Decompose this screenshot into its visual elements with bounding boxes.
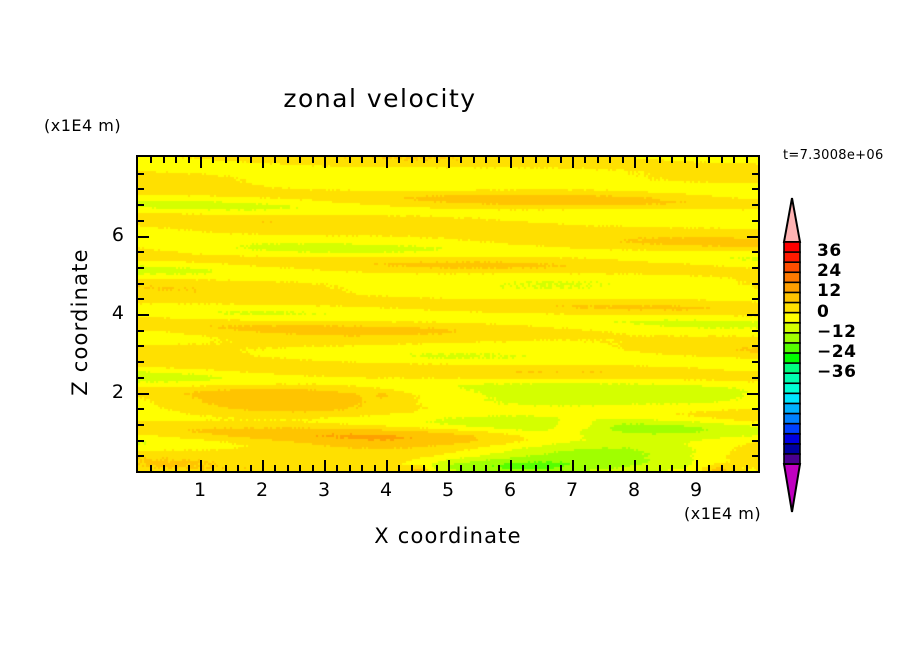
colorbar-band — [784, 242, 800, 252]
colorbar-band — [784, 373, 800, 383]
x-tick-top — [671, 157, 673, 163]
x-tick-top — [746, 157, 748, 163]
z-tick — [138, 424, 144, 426]
x-tick-top — [436, 157, 438, 163]
z-tick-right — [752, 173, 758, 175]
x-tick — [150, 465, 152, 471]
x-tick — [473, 465, 475, 471]
x-tick-top — [225, 157, 227, 163]
z-tick-right — [752, 408, 758, 410]
x-tick-top — [448, 157, 450, 168]
x-axis-units-label: (x1E4 m) — [684, 504, 761, 523]
x-tick-top — [163, 157, 165, 163]
colorbar-band — [784, 343, 800, 353]
colorbar-tick-label: 24 — [817, 261, 842, 281]
x-tick-top — [634, 157, 636, 168]
x-tick-label: 6 — [490, 479, 530, 501]
z-tick-right — [752, 377, 758, 379]
z-tick-right — [752, 424, 758, 426]
z-tick — [138, 455, 144, 457]
z-tick — [138, 314, 149, 316]
x-tick — [250, 465, 252, 471]
x-tick-top — [535, 157, 537, 163]
z-tick-right — [752, 345, 758, 347]
x-tick — [312, 465, 314, 471]
x-tick — [498, 465, 500, 471]
x-tick-label: 9 — [676, 479, 716, 501]
colorbar-band — [784, 262, 800, 272]
colorbar-band — [784, 383, 800, 393]
z-tick — [138, 298, 144, 300]
x-tick-label: 1 — [180, 479, 220, 501]
x-tick-top — [547, 157, 549, 163]
x-tick — [634, 460, 636, 471]
x-tick — [708, 465, 710, 471]
x-tick — [262, 460, 264, 471]
z-tick — [138, 220, 144, 222]
x-tick-top — [398, 157, 400, 163]
x-tick — [324, 460, 326, 471]
colorbar-under-range-cap — [784, 464, 800, 512]
x-tick — [212, 465, 214, 471]
contour-field-canvas — [138, 157, 758, 471]
z-tick — [138, 440, 144, 442]
x-tick — [225, 465, 227, 471]
x-tick — [733, 465, 735, 471]
x-tick — [671, 465, 673, 471]
x-tick-top — [250, 157, 252, 163]
z-tick-right — [747, 236, 758, 238]
x-tick-top — [336, 157, 338, 163]
x-tick-top — [473, 157, 475, 163]
x-tick-top — [349, 157, 351, 163]
x-tick — [547, 465, 549, 471]
x-tick-top — [522, 157, 524, 163]
x-tick — [287, 465, 289, 471]
z-tick — [138, 204, 144, 206]
colorbar-band — [784, 282, 800, 292]
x-tick-top — [386, 157, 388, 168]
colorbar-band — [784, 424, 800, 434]
colorbar-tick-label: 0 — [817, 302, 829, 322]
y-axis-units-label: (x1E4 m) — [44, 116, 121, 135]
x-tick-top — [324, 157, 326, 168]
x-tick-top — [287, 157, 289, 163]
x-tick — [646, 465, 648, 471]
z-tick-right — [752, 188, 758, 190]
z-tick-right — [752, 361, 758, 363]
z-tick — [138, 408, 144, 410]
z-tick — [138, 330, 144, 332]
x-tick — [659, 465, 661, 471]
x-tick-top — [560, 157, 562, 163]
colorbar-band — [784, 353, 800, 363]
z-tick — [138, 393, 149, 395]
x-tick-top — [609, 157, 611, 163]
x-tick — [374, 465, 376, 471]
x-tick-top — [312, 157, 314, 163]
colorbar-band — [784, 414, 800, 424]
x-tick-top — [485, 157, 487, 163]
x-tick — [349, 465, 351, 471]
colorbar-tick-label: −24 — [817, 342, 856, 362]
colorbar: 3624120−12−24−36 — [777, 196, 811, 514]
page-title: zonal velocity — [0, 84, 760, 113]
z-tick-right — [752, 455, 758, 457]
x-tick — [684, 465, 686, 471]
colorbar-graphic — [777, 196, 811, 514]
z-tick — [138, 236, 149, 238]
x-tick — [274, 465, 276, 471]
z-tick-right — [752, 204, 758, 206]
x-tick-top — [622, 157, 624, 163]
colorbar-tick-label: −36 — [817, 362, 856, 382]
z-tick — [138, 267, 144, 269]
x-tick-top — [733, 157, 735, 163]
x-tick — [746, 465, 748, 471]
x-tick — [622, 465, 624, 471]
x-tick — [535, 465, 537, 471]
x-tick-top — [708, 157, 710, 163]
colorbar-band — [784, 272, 800, 282]
z-tick-right — [747, 393, 758, 395]
x-tick — [398, 465, 400, 471]
x-tick — [237, 465, 239, 471]
x-tick-top — [274, 157, 276, 163]
x-tick-label: 5 — [428, 479, 468, 501]
x-tick — [460, 465, 462, 471]
colorbar-band — [784, 454, 800, 464]
x-tick — [411, 465, 413, 471]
x-tick-label: 4 — [366, 479, 406, 501]
x-tick-top — [175, 157, 177, 163]
x-tick — [299, 465, 301, 471]
z-tick-right — [752, 440, 758, 442]
x-axis-title: X coordinate — [136, 524, 760, 548]
x-tick — [696, 460, 698, 471]
z-tick-right — [752, 298, 758, 300]
x-tick-top — [374, 157, 376, 163]
z-tick-label: 4 — [84, 302, 124, 324]
x-tick — [200, 460, 202, 471]
colorbar-band — [784, 434, 800, 444]
x-tick — [436, 465, 438, 471]
x-tick — [597, 465, 599, 471]
x-tick-top — [150, 157, 152, 163]
colorbar-band — [784, 323, 800, 333]
z-tick — [138, 173, 144, 175]
z-tick-label: 6 — [84, 224, 124, 246]
x-tick — [584, 465, 586, 471]
x-tick-top — [584, 157, 586, 163]
z-tick — [138, 188, 144, 190]
colorbar-tick-label: −12 — [817, 322, 856, 342]
colorbar-over-range-cap — [784, 198, 800, 242]
x-tick-top — [696, 157, 698, 168]
contour-plot-area — [136, 155, 760, 473]
z-tick — [138, 283, 144, 285]
x-tick — [423, 465, 425, 471]
x-tick — [188, 465, 190, 471]
colorbar-tick-label: 36 — [817, 241, 842, 261]
x-tick-label: 3 — [304, 479, 344, 501]
colorbar-band — [784, 403, 800, 413]
x-tick-top — [646, 157, 648, 163]
x-tick — [560, 465, 562, 471]
x-tick-top — [721, 157, 723, 163]
z-tick-right — [752, 251, 758, 253]
z-tick — [138, 251, 144, 253]
x-tick-label: 8 — [614, 479, 654, 501]
x-tick — [163, 465, 165, 471]
colorbar-band — [784, 393, 800, 403]
x-tick — [361, 465, 363, 471]
x-tick-label: 7 — [552, 479, 592, 501]
colorbar-tick-label: 12 — [817, 281, 842, 301]
colorbar-band — [784, 363, 800, 373]
z-tick-right — [752, 220, 758, 222]
x-tick-top — [659, 157, 661, 163]
x-tick-top — [262, 157, 264, 168]
x-tick-top — [299, 157, 301, 163]
z-tick — [138, 377, 144, 379]
x-tick-label: 2 — [242, 479, 282, 501]
x-tick-top — [460, 157, 462, 163]
z-tick-label: 2 — [84, 381, 124, 403]
x-tick — [609, 465, 611, 471]
x-tick-top — [200, 157, 202, 168]
x-tick-top — [188, 157, 190, 163]
z-tick — [138, 361, 144, 363]
colorbar-band — [784, 444, 800, 454]
x-tick-top — [212, 157, 214, 163]
colorbar-band — [784, 252, 800, 262]
x-tick-top — [361, 157, 363, 163]
x-tick — [485, 465, 487, 471]
colorbar-band — [784, 313, 800, 323]
x-tick-top — [572, 157, 574, 168]
z-tick-right — [752, 330, 758, 332]
x-tick-top — [510, 157, 512, 168]
z-tick-right — [747, 314, 758, 316]
x-tick — [572, 460, 574, 471]
timestamp-label: t=7.3008e+06 — [783, 148, 884, 163]
x-tick-top — [411, 157, 413, 163]
x-tick — [386, 460, 388, 471]
x-tick-top — [423, 157, 425, 163]
x-tick — [336, 465, 338, 471]
colorbar-band — [784, 303, 800, 313]
z-tick — [138, 345, 144, 347]
z-tick-right — [752, 267, 758, 269]
x-tick — [175, 465, 177, 471]
x-tick — [721, 465, 723, 471]
x-tick — [448, 460, 450, 471]
z-tick-right — [752, 283, 758, 285]
x-tick-top — [237, 157, 239, 163]
x-tick — [522, 465, 524, 471]
x-tick-top — [597, 157, 599, 163]
colorbar-band — [784, 333, 800, 343]
colorbar-band — [784, 292, 800, 302]
x-tick-top — [498, 157, 500, 163]
x-tick — [510, 460, 512, 471]
x-tick-top — [684, 157, 686, 163]
